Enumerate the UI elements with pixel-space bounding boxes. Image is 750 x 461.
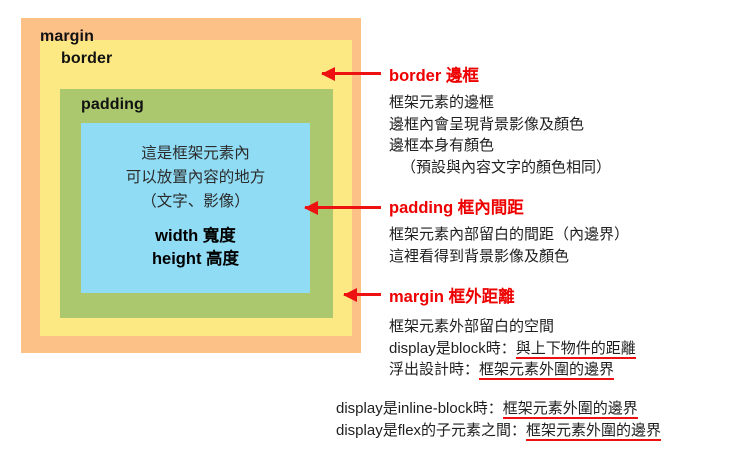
annotation-margin-line-2-underlined: 與上下物件的距離 [516, 340, 636, 359]
annotation-border-line-1: 框架元素的邊框 [389, 92, 611, 114]
annotation-margin-line-1: 框架元素外部留白的空間 [389, 316, 636, 338]
content-dimension-group: width 寬度 height 高度 [152, 225, 239, 271]
bottom-note-block: display是inline-block時：框架元素外圍的邊界 display是… [336, 398, 661, 442]
bottom-note-line-2: display是flex的子元素之間：框架元素外圍的邊界 [336, 420, 661, 442]
box-model-diagram: margin border padding 這是框架元素內 可以放置內容的地方 … [21, 18, 361, 353]
content-height-line: height 高度 [152, 248, 239, 271]
annotation-border-line-4: （預設與內容文字的顏色相同） [389, 157, 611, 179]
annotation-padding-line-1: 框架元素內部留白的間距（內邊界） [389, 224, 629, 246]
bottom-note-line-1: display是inline-block時：框架元素外圍的邊界 [336, 398, 661, 420]
bottom-note-line-2-plain: display是flex的子元素之間： [336, 422, 526, 439]
content-box-text: 這是框架元素內 可以放置內容的地方 （文字、影像） width 寬度 heigh… [81, 123, 310, 293]
annotation-border: border 邊框 框架元素的邊框 邊框內會呈現背景影像及顏色 邊框本身有顏色 … [389, 62, 611, 178]
annotation-margin-line-2-plain: display是block時： [389, 340, 516, 357]
annotation-border-line-2: 邊框內會呈現背景影像及顏色 [389, 114, 611, 136]
annotation-border-line-3: 邊框本身有顏色 [389, 135, 611, 157]
annotation-margin-line-3-underlined: 框架元素外圍的邊界 [479, 361, 614, 380]
annotation-margin-line-2: display是block時：與上下物件的距離 [389, 338, 636, 360]
bottom-note-line-1-plain: display是inline-block時： [336, 400, 503, 417]
content-description-line-1: 這是框架元素內 [141, 142, 250, 166]
padding-layer-label: padding [81, 96, 144, 114]
padding-pointer-arrow-icon [305, 206, 381, 209]
annotation-padding-body: 框架元素內部留白的間距（內邊界） 這裡看得到背景影像及顏色 [389, 224, 629, 267]
content-width-line: width 寬度 [152, 225, 239, 248]
content-description-line-3: （文字、影像） [141, 190, 250, 214]
annotation-border-title: border 邊框 [389, 62, 611, 86]
bottom-note-line-2-underlined: 框架元素外圍的邊界 [526, 422, 661, 441]
border-layer-label: border [61, 50, 112, 68]
border-pointer-arrow-icon [322, 72, 381, 75]
annotation-padding-line-2: 這裡看得到背景影像及顏色 [389, 246, 629, 268]
annotation-margin: margin 框外距離 框架元素外部留白的空間 display是block時：與… [389, 283, 636, 381]
margin-pointer-arrow-icon [344, 293, 381, 296]
margin-layer-label: margin [40, 28, 94, 46]
annotation-margin-body: 框架元素外部留白的空間 display是block時：與上下物件的距離 浮出設計… [389, 316, 636, 381]
annotation-border-body: 框架元素的邊框 邊框內會呈現背景影像及顏色 邊框本身有顏色 （預設與內容文字的顏… [389, 92, 611, 178]
annotation-padding: padding 框內間距 框架元素內部留白的間距（內邊界） 這裡看得到背景影像及… [389, 194, 629, 267]
annotation-margin-title: margin 框外距離 [389, 283, 636, 307]
annotation-margin-line-3-plain: 浮出設計時： [389, 361, 479, 378]
content-description-line-2: 可以放置內容的地方 [126, 166, 266, 190]
annotation-padding-title: padding 框內間距 [389, 194, 629, 218]
annotation-margin-line-3: 浮出設計時：框架元素外圍的邊界 [389, 359, 636, 381]
bottom-note-line-1-underlined: 框架元素外圍的邊界 [503, 400, 638, 419]
